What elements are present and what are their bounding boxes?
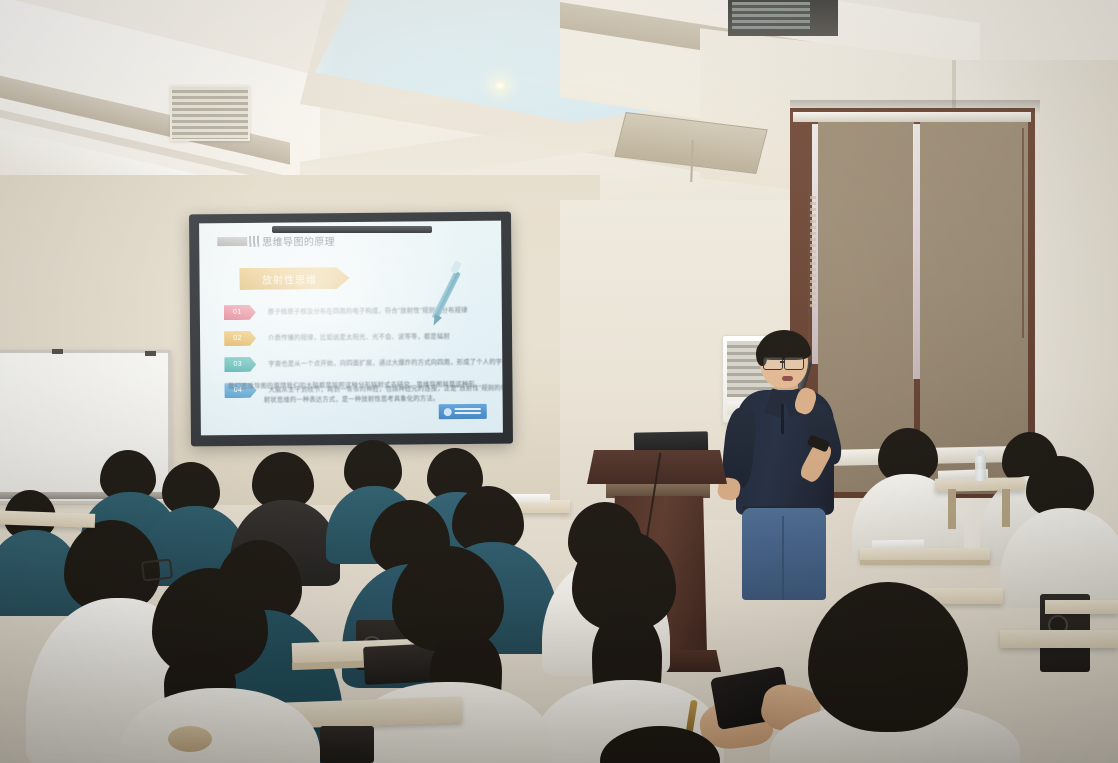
list-item	[790, 582, 1020, 763]
slide-row-number: 02	[233, 335, 242, 342]
slide-banner: 放射性思维	[239, 267, 349, 290]
desk-leg	[1002, 489, 1010, 527]
presenter	[718, 330, 848, 600]
slide-title-accent-block	[217, 237, 247, 246]
slide-row-badge: 03	[224, 357, 256, 372]
whiteboard-clip-left	[52, 349, 63, 354]
slide-logo-icon	[444, 408, 452, 416]
slide-row-text: 介质传播的规律，比如说是太阳光、光不会、波等等，都是辐射	[268, 331, 450, 342]
slide-row-number: 01	[233, 309, 242, 316]
screen-bottom-mount	[272, 226, 432, 233]
slide-title: 思维导图的原理	[262, 233, 335, 249]
glasses-icon	[763, 357, 783, 370]
hair-scrunchie	[168, 726, 212, 752]
blind-rail	[793, 112, 1031, 122]
slide-row-number: 03	[233, 361, 242, 368]
blind-cord-right[interactable]	[1022, 128, 1024, 338]
jeans-seam	[782, 516, 784, 600]
list-item	[862, 428, 954, 558]
ceiling-air-vent	[170, 85, 250, 141]
water-bottle-cap	[977, 450, 984, 456]
slide-logo-text-lines	[455, 408, 481, 415]
presenter-mouth	[782, 376, 793, 381]
pen-illustration-cap	[450, 260, 462, 274]
audience-shoulders	[120, 688, 320, 763]
list-item	[600, 726, 740, 763]
whiteboard-clip-right	[145, 351, 156, 356]
slide-banner-label: 放射性思维	[262, 271, 317, 286]
glasses-lens-right	[784, 357, 804, 370]
blind-light-gap-2	[913, 124, 920, 379]
list-item	[346, 546, 546, 763]
slide-row: 01 原子核原子核及分布在四周的电子构成，符合"放射性"规则的分布规律	[224, 303, 494, 320]
list-item	[1012, 456, 1118, 606]
shirt-placket	[781, 404, 784, 434]
desk-leg	[948, 489, 956, 529]
lectern-neck	[606, 484, 710, 498]
list-item	[112, 568, 322, 763]
slide-surface: 思维导图的原理 放射性思维 01 原子核原子核及分布在四周的电子构成，符合"放射…	[199, 221, 503, 436]
audience-head	[808, 582, 968, 732]
glasses-bridge	[780, 361, 785, 363]
desk-edge	[860, 560, 990, 565]
slide-footer-line-2: 射状思维的一种表达方式，是一种放射性思考具象化的方法。	[201, 393, 503, 405]
slide-title-accent-bars	[249, 236, 259, 247]
ceiling-spotlight	[494, 81, 506, 90]
water-bottle	[975, 455, 986, 481]
slide-row: 03 宇宙也是从一个点开始，向四面扩展，通过大爆炸的方式向四周，形成了个人的宇宙	[224, 355, 494, 372]
slide-row-text: 宇宙也是从一个点开始，向四面扩展，通过大爆炸的方式向四周，形成了个人的宇宙	[268, 357, 503, 368]
laptop-on-lectern[interactable]	[634, 431, 708, 452]
slide-row-badge: 02	[224, 331, 256, 346]
classroom-photo-scene: 思维导图的原理 放射性思维 01 原子核原子核及分布在四周的电子构成，符合"放射…	[0, 0, 1118, 763]
blind-pull-chain[interactable]	[810, 196, 816, 308]
chair	[320, 726, 374, 763]
papers-on-desk	[872, 540, 924, 550]
ceiling-air-conditioner-grille	[732, 2, 810, 32]
desk	[1045, 600, 1118, 614]
slide-row: 02 介质传播的规律，比如说是太阳光、光不会、波等等，都是辐射	[224, 329, 494, 346]
slide-row-badge: 01	[224, 305, 256, 320]
audience-head	[600, 726, 720, 763]
projection-screen: 思维导图的原理 放射性思维 01 原子核原子核及分布在四周的电子构成，符合"放射…	[189, 212, 513, 447]
